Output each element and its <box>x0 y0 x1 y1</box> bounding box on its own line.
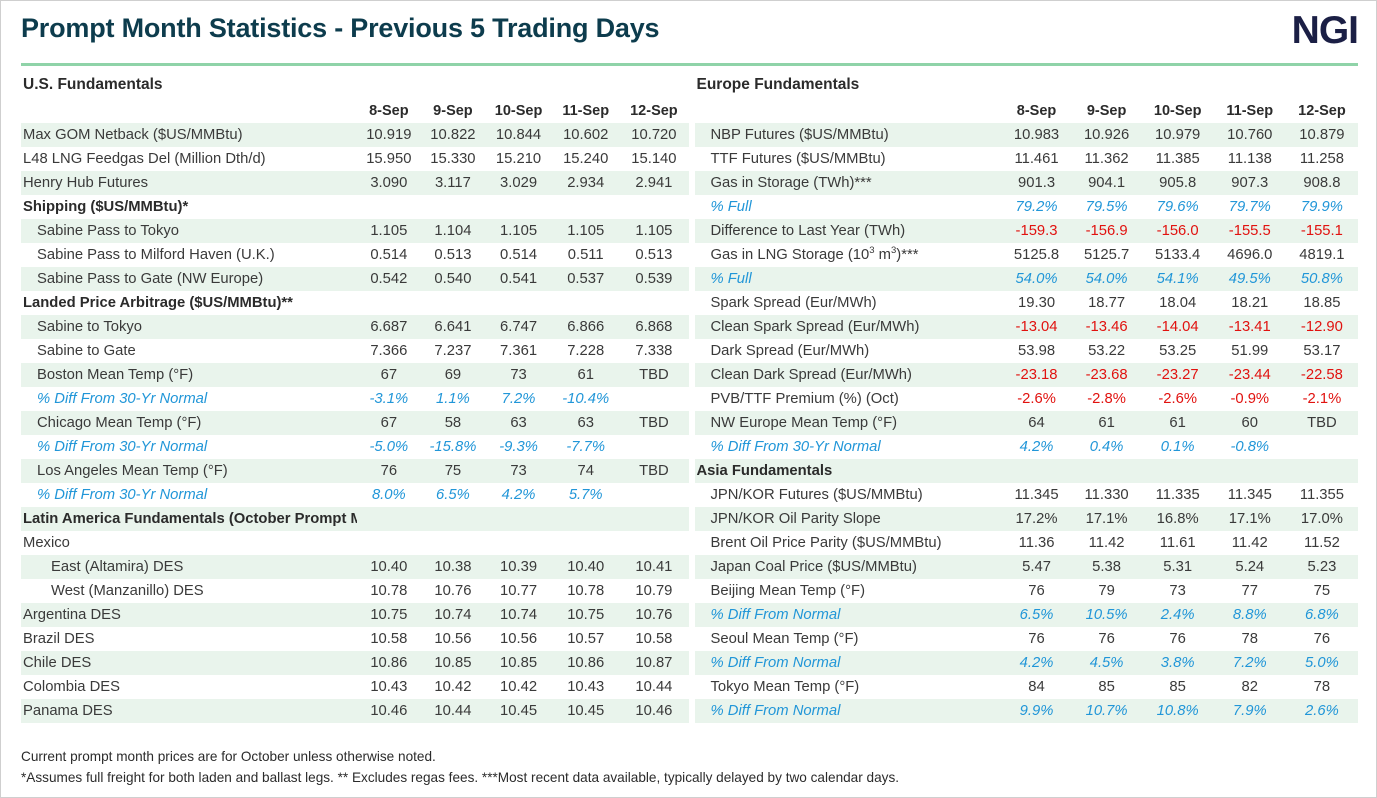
right-cell: -23.44 <box>1214 363 1286 387</box>
right-cell: 17.1% <box>1072 507 1142 531</box>
right-cell: 11.42 <box>1214 531 1286 555</box>
left-row-label: Panama DES <box>21 699 357 723</box>
right-date-header: 11-Sep <box>1214 99 1286 123</box>
right-cell: 18.85 <box>1286 291 1358 315</box>
left-cell <box>485 507 552 531</box>
right-cell: 82 <box>1214 675 1286 699</box>
left-row-label: Chicago Mean Temp (°F) <box>21 411 357 435</box>
right-row-label: PVB/TTF Premium (%) (Oct) <box>695 387 1002 411</box>
table-row: Shipping ($US/MMBtu)* <box>21 195 689 219</box>
left-cell: 10.86 <box>357 651 421 675</box>
table-row: L48 LNG Feedgas Del (Million Dth/d)15.95… <box>21 147 689 171</box>
right-cell: 64 <box>1002 411 1072 435</box>
right-cell: 5125.7 <box>1072 243 1142 267</box>
left-cell: 10.43 <box>552 675 619 699</box>
table-row: West (Manzanillo) DES10.7810.7610.7710.7… <box>21 579 689 603</box>
right-cell: 2.4% <box>1142 603 1214 627</box>
left-row-label: Boston Mean Temp (°F) <box>21 363 357 387</box>
left-cell: 10.76 <box>421 579 485 603</box>
left-cell <box>357 195 421 219</box>
right-cell: 11.42 <box>1072 531 1142 555</box>
right-cell: -22.58 <box>1286 363 1358 387</box>
right-cell: -155.1 <box>1286 219 1358 243</box>
left-cell: 7.237 <box>421 339 485 363</box>
left-cell: 69 <box>421 363 485 387</box>
right-cell: 8.8% <box>1214 603 1286 627</box>
left-cell: 10.44 <box>421 699 485 723</box>
left-cell: 10.78 <box>552 579 619 603</box>
table-row: TTF Futures ($US/MMBtu)11.46111.36211.38… <box>695 147 1359 171</box>
table-row: % Diff From 30-Yr Normal4.2%0.4%0.1%-0.8… <box>695 435 1359 459</box>
left-cell: 8.0% <box>357 483 421 507</box>
right-cell: 11.138 <box>1214 147 1286 171</box>
panels-container: U.S. Fundamentals 8-Sep9-Sep10-Sep11-Sep… <box>1 71 1376 723</box>
right-cell: -13.04 <box>1002 315 1072 339</box>
left-cell: 7.366 <box>357 339 421 363</box>
right-cell: 4696.0 <box>1214 243 1286 267</box>
table-row: Brent Oil Price Parity ($US/MMBtu)11.361… <box>695 531 1359 555</box>
left-row-label: % Diff From 30-Yr Normal <box>21 435 357 459</box>
left-cell: 10.87 <box>619 651 688 675</box>
right-row-label: TTF Futures ($US/MMBtu) <box>695 147 1002 171</box>
left-row-label: Sabine to Gate <box>21 339 357 363</box>
left-cell: 6.687 <box>357 315 421 339</box>
right-cell: 4.2% <box>1002 651 1072 675</box>
left-cell: 74 <box>552 459 619 483</box>
right-cell: 75 <box>1286 579 1358 603</box>
right-cell: 5.24 <box>1214 555 1286 579</box>
table-row: Sabine to Tokyo6.6876.6416.7476.8666.868 <box>21 315 689 339</box>
left-cell: 0.513 <box>421 243 485 267</box>
left-cell: 10.85 <box>485 651 552 675</box>
right-row-label: Brent Oil Price Parity ($US/MMBtu) <box>695 531 1002 555</box>
right-cell: 16.8% <box>1142 507 1214 531</box>
right-cell: -156.0 <box>1142 219 1214 243</box>
right-cell: 3.8% <box>1142 651 1214 675</box>
table-row: Landed Price Arbitrage ($US/MMBtu)** <box>21 291 689 315</box>
left-cell: -7.7% <box>552 435 619 459</box>
right-cell: 5.47 <box>1002 555 1072 579</box>
left-cell: 10.86 <box>552 651 619 675</box>
left-cell <box>357 507 421 531</box>
left-cell: 7.2% <box>485 387 552 411</box>
right-cell: -2.8% <box>1072 387 1142 411</box>
right-cell: 11.258 <box>1286 147 1358 171</box>
right-cell: 5.31 <box>1142 555 1214 579</box>
left-cell: 10.58 <box>357 627 421 651</box>
right-cell <box>1286 459 1358 483</box>
right-cell: 11.345 <box>1214 483 1286 507</box>
left-cell: 10.919 <box>357 123 421 147</box>
right-cell: -13.41 <box>1214 315 1286 339</box>
right-cell: 79 <box>1072 579 1142 603</box>
left-row-label: % Diff From 30-Yr Normal <box>21 483 357 507</box>
left-cell: 10.46 <box>619 699 688 723</box>
left-row-label: Brazil DES <box>21 627 357 651</box>
left-cell: 73 <box>485 459 552 483</box>
right-date-header: 9-Sep <box>1072 99 1142 123</box>
footer-note-1: Current prompt month prices are for Octo… <box>21 746 1358 767</box>
right-row-label: % Diff From Normal <box>695 603 1002 627</box>
left-row-label: Mexico <box>21 531 357 555</box>
right-cell: 10.983 <box>1002 123 1072 147</box>
left-cell: 10.56 <box>421 627 485 651</box>
left-cell: 15.240 <box>552 147 619 171</box>
table-row: PVB/TTF Premium (%) (Oct)-2.6%-2.8%-2.6%… <box>695 387 1359 411</box>
right-row-label: Gas in LNG Storage (103 m3)*** <box>695 243 1002 267</box>
left-cell: 6.641 <box>421 315 485 339</box>
left-cell: 6.5% <box>421 483 485 507</box>
right-row-label: % Full <box>695 267 1002 291</box>
left-cell: 3.117 <box>421 171 485 195</box>
right-row-label: Gas in Storage (TWh)*** <box>695 171 1002 195</box>
right-cell: -159.3 <box>1002 219 1072 243</box>
right-cell: 76 <box>1286 627 1358 651</box>
left-cell: 10.74 <box>421 603 485 627</box>
right-cell: 76 <box>1072 627 1142 651</box>
left-cell: 76 <box>357 459 421 483</box>
left-cell: 73 <box>485 363 552 387</box>
left-row-label: % Diff From 30-Yr Normal <box>21 387 357 411</box>
left-cell: 10.720 <box>619 123 688 147</box>
right-cell: 4.2% <box>1002 435 1072 459</box>
left-cell <box>619 483 688 507</box>
right-cell: 11.330 <box>1072 483 1142 507</box>
left-row-label: Sabine Pass to Milford Haven (U.K.) <box>21 243 357 267</box>
left-cell: 10.74 <box>485 603 552 627</box>
left-cell: 0.541 <box>485 267 552 291</box>
right-cell: 5133.4 <box>1142 243 1214 267</box>
left-cell <box>421 195 485 219</box>
right-cell: -23.18 <box>1002 363 1072 387</box>
left-cell: 10.58 <box>619 627 688 651</box>
right-cell: -2.1% <box>1286 387 1358 411</box>
left-cell: -10.4% <box>552 387 619 411</box>
left-date-header: 11-Sep <box>552 99 619 123</box>
left-cell: -5.0% <box>357 435 421 459</box>
right-cell: 0.4% <box>1072 435 1142 459</box>
left-cell: 3.029 <box>485 171 552 195</box>
right-cell: 51.99 <box>1214 339 1286 363</box>
page-title: Prompt Month Statistics - Previous 5 Tra… <box>21 13 659 44</box>
left-row-label: West (Manzanillo) DES <box>21 579 357 603</box>
right-cell: 5.23 <box>1286 555 1358 579</box>
right-row-label: Clean Spark Spread (Eur/MWh) <box>695 315 1002 339</box>
left-cell: 1.104 <box>421 219 485 243</box>
right-row-label: Seoul Mean Temp (°F) <box>695 627 1002 651</box>
left-cell: 5.7% <box>552 483 619 507</box>
left-header-spacer <box>21 99 357 123</box>
table-row: Beijing Mean Temp (°F)7679737775 <box>695 579 1359 603</box>
right-row-label: NBP Futures ($US/MMBtu) <box>695 123 1002 147</box>
right-cell: 9.9% <box>1002 699 1072 723</box>
left-cell <box>357 531 421 555</box>
left-cell: 0.514 <box>357 243 421 267</box>
report-page: Prompt Month Statistics - Previous 5 Tra… <box>0 0 1377 798</box>
right-cell: 60 <box>1214 411 1286 435</box>
right-cell: 77 <box>1214 579 1286 603</box>
panel-europe-asia-fundamentals: Europe Fundamentals 8-Sep9-Sep10-Sep11-S… <box>689 71 1377 723</box>
right-cell: -23.68 <box>1072 363 1142 387</box>
right-cell: -0.9% <box>1214 387 1286 411</box>
right-cell: 6.5% <box>1002 603 1072 627</box>
left-cell: 10.39 <box>485 555 552 579</box>
right-row-label: % Diff From 30-Yr Normal <box>695 435 1002 459</box>
right-cell: 76 <box>1142 627 1214 651</box>
left-cell: 1.105 <box>485 219 552 243</box>
right-cell: 10.8% <box>1142 699 1214 723</box>
right-cell: 2.6% <box>1286 699 1358 723</box>
left-cell <box>552 507 619 531</box>
right-cell: 84 <box>1002 675 1072 699</box>
left-cell: -15.8% <box>421 435 485 459</box>
left-cell: 10.56 <box>485 627 552 651</box>
left-row-label: Sabine Pass to Tokyo <box>21 219 357 243</box>
right-cell: 73 <box>1142 579 1214 603</box>
table-row: Henry Hub Futures3.0903.1173.0292.9342.9… <box>21 171 689 195</box>
right-cell: 10.5% <box>1072 603 1142 627</box>
table-row: Japan Coal Price ($US/MMBtu)5.475.385.31… <box>695 555 1359 579</box>
left-cell: 15.210 <box>485 147 552 171</box>
left-cell: -3.1% <box>357 387 421 411</box>
right-cell: 5125.8 <box>1002 243 1072 267</box>
right-row-label: % Full <box>695 195 1002 219</box>
right-cell: 4819.1 <box>1286 243 1358 267</box>
right-cell: 907.3 <box>1214 171 1286 195</box>
right-cell: -155.5 <box>1214 219 1286 243</box>
left-cell: 1.105 <box>552 219 619 243</box>
right-cell: 49.5% <box>1214 267 1286 291</box>
table-row: Latin America Fundamentals (October Prom… <box>21 507 689 531</box>
right-row-label: % Diff From Normal <box>695 651 1002 675</box>
left-cell: 63 <box>485 411 552 435</box>
panel-title-left: U.S. Fundamentals <box>21 71 689 99</box>
right-cell: 18.21 <box>1214 291 1286 315</box>
left-cell: 10.75 <box>357 603 421 627</box>
table-row: Sabine Pass to Tokyo1.1051.1041.1051.105… <box>21 219 689 243</box>
left-cell: 0.542 <box>357 267 421 291</box>
right-cell: 905.8 <box>1142 171 1214 195</box>
left-cell: 1.105 <box>357 219 421 243</box>
left-row-label: Los Angeles Mean Temp (°F) <box>21 459 357 483</box>
table-row: Boston Mean Temp (°F)67697361TBD <box>21 363 689 387</box>
right-cell: 17.0% <box>1286 507 1358 531</box>
left-cell: 1.1% <box>421 387 485 411</box>
left-cell: 10.42 <box>421 675 485 699</box>
right-cell: 53.22 <box>1072 339 1142 363</box>
right-cell: 54.0% <box>1002 267 1072 291</box>
right-cell: 5.0% <box>1286 651 1358 675</box>
right-cell: -2.6% <box>1002 387 1072 411</box>
right-cell <box>1214 459 1286 483</box>
left-cell: 0.511 <box>552 243 619 267</box>
left-cell: 0.540 <box>421 267 485 291</box>
table-row: Sabine Pass to Milford Haven (U.K.)0.514… <box>21 243 689 267</box>
left-cell: 7.361 <box>485 339 552 363</box>
report-footer: Current prompt month prices are for Octo… <box>21 746 1358 788</box>
right-cell: 10.979 <box>1142 123 1214 147</box>
table-row: Difference to Last Year (TWh)-159.3-156.… <box>695 219 1359 243</box>
table-row: Colombia DES10.4310.4210.4210.4310.44 <box>21 675 689 699</box>
left-cell: 0.537 <box>552 267 619 291</box>
left-cell <box>619 435 688 459</box>
left-cell: 10.38 <box>421 555 485 579</box>
left-row-label: Shipping ($US/MMBtu)* <box>21 195 357 219</box>
right-cell <box>1072 459 1142 483</box>
right-cell: 76 <box>1002 579 1072 603</box>
table-right: 8-Sep9-Sep10-Sep11-Sep12-SepNBP Futures … <box>695 99 1359 723</box>
left-cell: 10.44 <box>619 675 688 699</box>
left-cell: 2.934 <box>552 171 619 195</box>
right-cell: 79.6% <box>1142 195 1214 219</box>
right-cell: 18.77 <box>1072 291 1142 315</box>
table-row: Spark Spread (Eur/MWh)19.3018.7718.0418.… <box>695 291 1359 315</box>
right-cell: 79.9% <box>1286 195 1358 219</box>
right-cell: 53.17 <box>1286 339 1358 363</box>
left-cell: 67 <box>357 411 421 435</box>
left-cell: -9.3% <box>485 435 552 459</box>
left-cell: 10.40 <box>357 555 421 579</box>
table-row: % Diff From 30-Yr Normal-5.0%-15.8%-9.3%… <box>21 435 689 459</box>
left-cell <box>421 531 485 555</box>
right-cell: 4.5% <box>1072 651 1142 675</box>
right-cell: 0.1% <box>1142 435 1214 459</box>
panel-us-fundamentals: U.S. Fundamentals 8-Sep9-Sep10-Sep11-Sep… <box>1 71 689 723</box>
left-cell <box>552 531 619 555</box>
right-row-label: JPN/KOR Futures ($US/MMBtu) <box>695 483 1002 507</box>
table-row: Chicago Mean Temp (°F)67586363TBD <box>21 411 689 435</box>
left-cell: 10.822 <box>421 123 485 147</box>
right-cell: 18.04 <box>1142 291 1214 315</box>
left-cell <box>619 531 688 555</box>
right-cell <box>1002 459 1072 483</box>
left-cell: 10.45 <box>485 699 552 723</box>
table-row: Sabine to Gate7.3667.2377.3617.2287.338 <box>21 339 689 363</box>
right-cell: 53.25 <box>1142 339 1214 363</box>
table-row: JPN/KOR Futures ($US/MMBtu)11.34511.3301… <box>695 483 1359 507</box>
right-cell: 54.0% <box>1072 267 1142 291</box>
right-row-label: Japan Coal Price ($US/MMBtu) <box>695 555 1002 579</box>
left-cell: TBD <box>619 363 688 387</box>
right-column-header-row: 8-Sep9-Sep10-Sep11-Sep12-Sep <box>695 99 1359 123</box>
left-cell: 10.46 <box>357 699 421 723</box>
right-cell: 5.38 <box>1072 555 1142 579</box>
left-cell <box>485 195 552 219</box>
left-cell: 0.514 <box>485 243 552 267</box>
table-row: Panama DES10.4610.4410.4510.4510.46 <box>21 699 689 723</box>
left-cell: 15.330 <box>421 147 485 171</box>
table-row: Mexico <box>21 531 689 555</box>
left-cell: 10.77 <box>485 579 552 603</box>
right-cell: 11.461 <box>1002 147 1072 171</box>
right-cell: 11.362 <box>1072 147 1142 171</box>
table-row: Brazil DES10.5810.5610.5610.5710.58 <box>21 627 689 651</box>
left-cell <box>619 387 688 411</box>
ngi-logo: NGI <box>1292 11 1358 50</box>
left-cell: 6.868 <box>619 315 688 339</box>
left-column-header-row: 8-Sep9-Sep10-Sep11-Sep12-Sep <box>21 99 689 123</box>
right-cell: -14.04 <box>1142 315 1214 339</box>
left-cell <box>552 291 619 315</box>
left-cell: 10.42 <box>485 675 552 699</box>
table-row: East (Altamira) DES10.4010.3810.3910.401… <box>21 555 689 579</box>
right-row-label: Asia Fundamentals <box>695 459 1002 483</box>
left-cell: 10.76 <box>619 603 688 627</box>
left-cell: 10.57 <box>552 627 619 651</box>
left-cell: 10.41 <box>619 555 688 579</box>
panel-title-right: Europe Fundamentals <box>695 71 1359 99</box>
left-cell: 0.539 <box>619 267 688 291</box>
table-row: Los Angeles Mean Temp (°F)76757374TBD <box>21 459 689 483</box>
right-cell: 7.2% <box>1214 651 1286 675</box>
table-row: % Diff From 30-Yr Normal-3.1%1.1%7.2%-10… <box>21 387 689 411</box>
table-row: % Diff From Normal4.2%4.5%3.8%7.2%5.0% <box>695 651 1359 675</box>
right-cell: 17.2% <box>1002 507 1072 531</box>
left-cell: 61 <box>552 363 619 387</box>
footer-note-2: *Assumes full freight for both laden and… <box>21 767 1358 788</box>
right-cell: 908.8 <box>1286 171 1358 195</box>
table-row: Tokyo Mean Temp (°F)8485858278 <box>695 675 1359 699</box>
left-row-label: Landed Price Arbitrage ($US/MMBtu)** <box>21 291 357 315</box>
table-row: Seoul Mean Temp (°F)7676767876 <box>695 627 1359 651</box>
left-cell: 10.43 <box>357 675 421 699</box>
right-date-header: 12-Sep <box>1286 99 1358 123</box>
table-row: NBP Futures ($US/MMBtu)10.98310.92610.97… <box>695 123 1359 147</box>
right-cell: 76 <box>1002 627 1072 651</box>
table-row: Gas in LNG Storage (103 m3)***5125.85125… <box>695 243 1359 267</box>
right-date-header: 10-Sep <box>1142 99 1214 123</box>
right-cell: 10.879 <box>1286 123 1358 147</box>
left-cell: 4.2% <box>485 483 552 507</box>
left-cell: 10.602 <box>552 123 619 147</box>
right-row-label: Beijing Mean Temp (°F) <box>695 579 1002 603</box>
left-cell: TBD <box>619 411 688 435</box>
header-divider <box>21 63 1358 66</box>
table-row: Dark Spread (Eur/MWh)53.9853.2253.2551.9… <box>695 339 1359 363</box>
left-row-label: Max GOM Netback ($US/MMBtu) <box>21 123 357 147</box>
table-row: Clean Spark Spread (Eur/MWh)-13.04-13.46… <box>695 315 1359 339</box>
right-cell: 54.1% <box>1142 267 1214 291</box>
left-cell: 10.78 <box>357 579 421 603</box>
left-date-header: 9-Sep <box>421 99 485 123</box>
table-row: Chile DES10.8610.8510.8510.8610.87 <box>21 651 689 675</box>
right-cell: 61 <box>1142 411 1214 435</box>
right-date-header: 8-Sep <box>1002 99 1072 123</box>
table-left: 8-Sep9-Sep10-Sep11-Sep12-SepMax GOM Netb… <box>21 99 689 723</box>
left-cell: 10.844 <box>485 123 552 147</box>
right-cell: -13.46 <box>1072 315 1142 339</box>
left-row-label: Latin America Fundamentals (October Prom… <box>21 507 357 531</box>
left-row-label: Sabine to Tokyo <box>21 315 357 339</box>
right-cell: 11.52 <box>1286 531 1358 555</box>
right-cell: -12.90 <box>1286 315 1358 339</box>
left-cell: 10.85 <box>421 651 485 675</box>
right-cell: 78 <box>1214 627 1286 651</box>
right-cell: 78 <box>1286 675 1358 699</box>
table-row: % Diff From Normal6.5%10.5%2.4%8.8%6.8% <box>695 603 1359 627</box>
right-cell <box>1286 435 1358 459</box>
left-row-label: Argentina DES <box>21 603 357 627</box>
right-cell: -23.27 <box>1142 363 1214 387</box>
right-cell: 10.926 <box>1072 123 1142 147</box>
left-date-header: 8-Sep <box>357 99 421 123</box>
right-cell: 10.7% <box>1072 699 1142 723</box>
table-row: % Full79.2%79.5%79.6%79.7%79.9% <box>695 195 1359 219</box>
table-row: Asia Fundamentals <box>695 459 1359 483</box>
table-row: Max GOM Netback ($US/MMBtu)10.91910.8221… <box>21 123 689 147</box>
right-row-label: Spark Spread (Eur/MWh) <box>695 291 1002 315</box>
left-row-label: Colombia DES <box>21 675 357 699</box>
